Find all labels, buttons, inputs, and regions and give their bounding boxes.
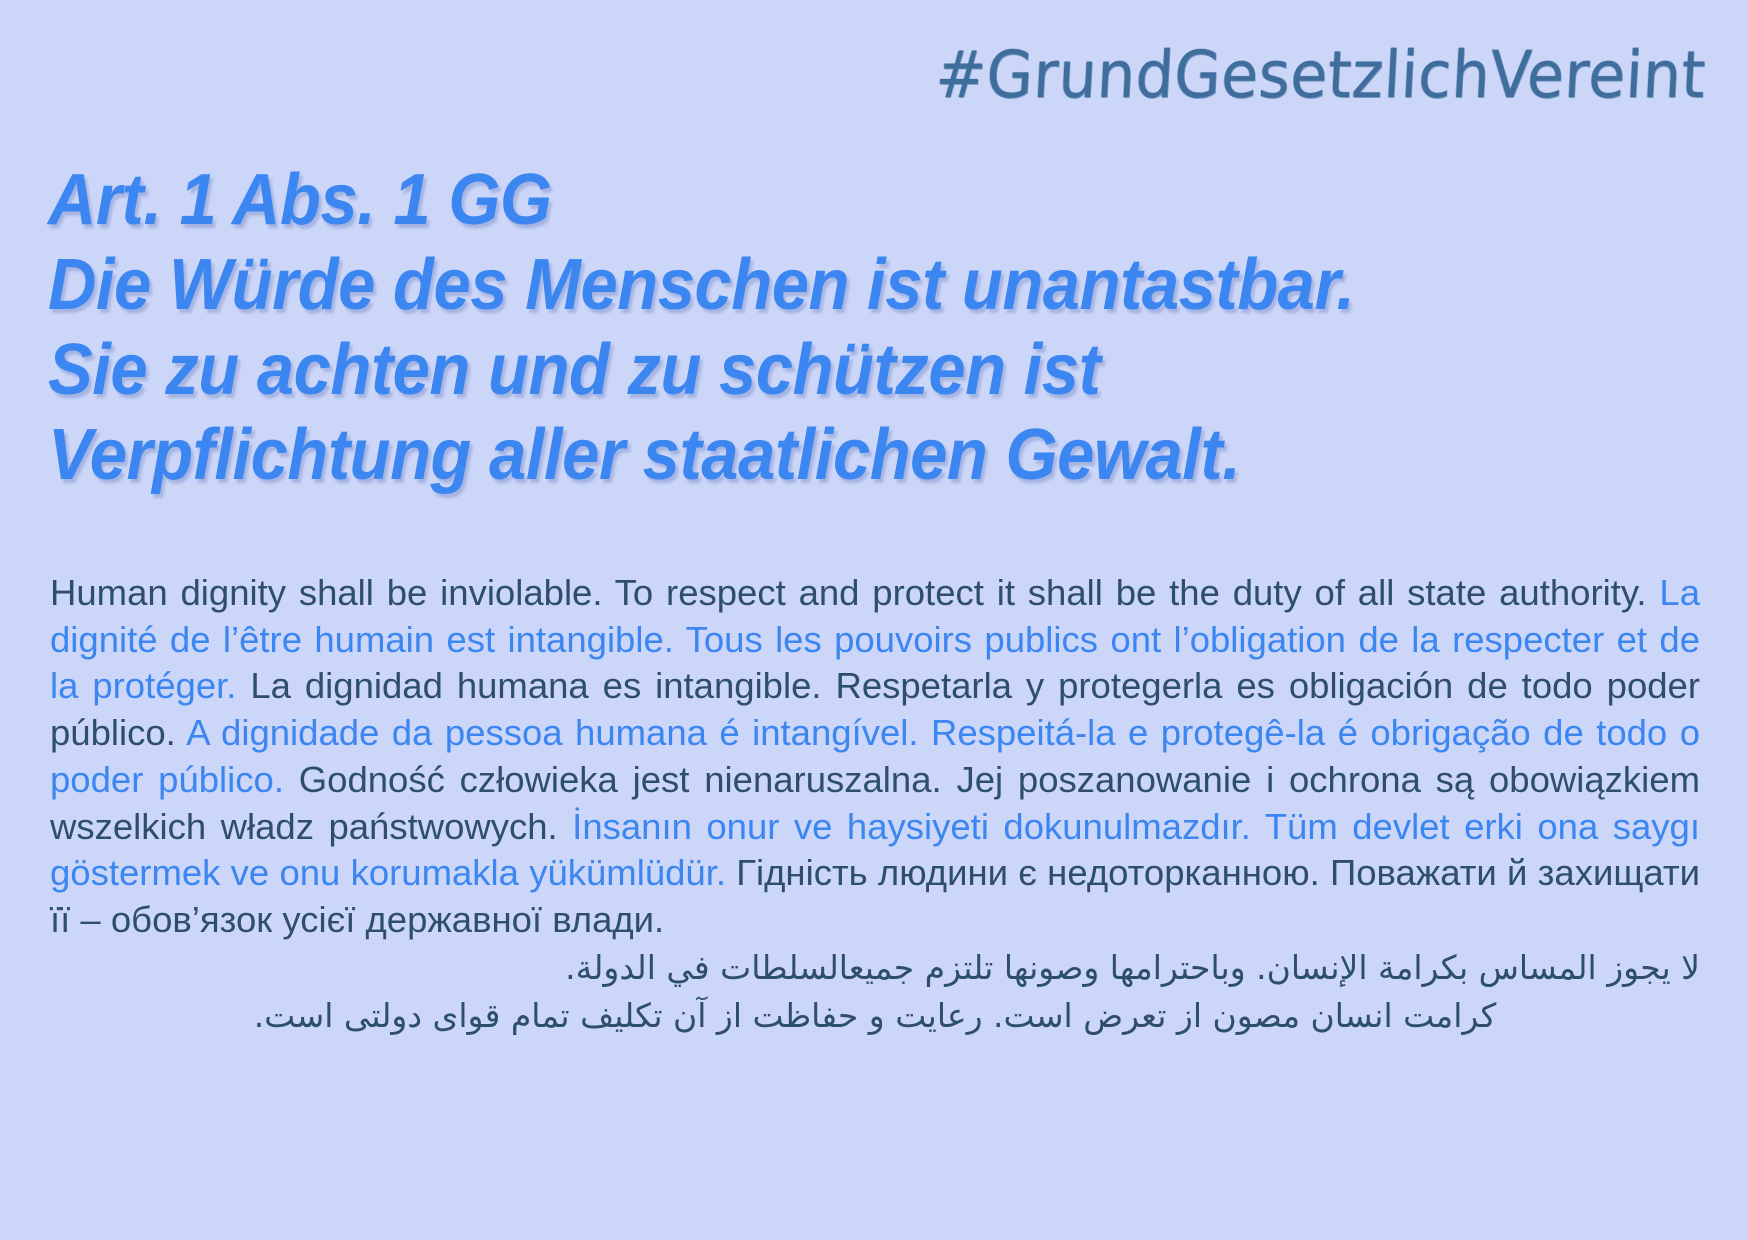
multilingual-body-text: Human dignity shall be inviolable. To re… xyxy=(50,570,1700,1039)
latin-cyrillic-paragraph: Human dignity shall be inviolable. To re… xyxy=(50,570,1700,944)
translation-en: Human dignity shall be inviolable. To re… xyxy=(50,572,1659,613)
campaign-hashtag: #GrundGesetzlichVereint xyxy=(934,43,1707,108)
headline-block: Art. 1 Abs. 1 GG Die Würde des Menschen … xyxy=(48,158,1688,498)
poster-canvas: #GrundGesetzlichVereint Art. 1 Abs. 1 GG… xyxy=(0,0,1748,1240)
translation-ar: لا يجوز المساس بكرامة الإنسان. وباحترامه… xyxy=(50,944,1700,992)
headline-line-2: Sie zu achten und zu schützen ist xyxy=(48,328,1573,413)
translation-fa: کرامت انسان مصون از تعرض است. رعایت و حف… xyxy=(50,992,1700,1040)
headline-line-3: Verpflichtung aller staatlichen Gewalt. xyxy=(48,413,1573,498)
headline-line-article: Art. 1 Abs. 1 GG xyxy=(48,158,1573,243)
hashtag-row: #GrundGesetzlichVereint xyxy=(0,48,1704,108)
headline-line-1: Die Würde des Menschen ist unantastbar. xyxy=(48,243,1573,328)
